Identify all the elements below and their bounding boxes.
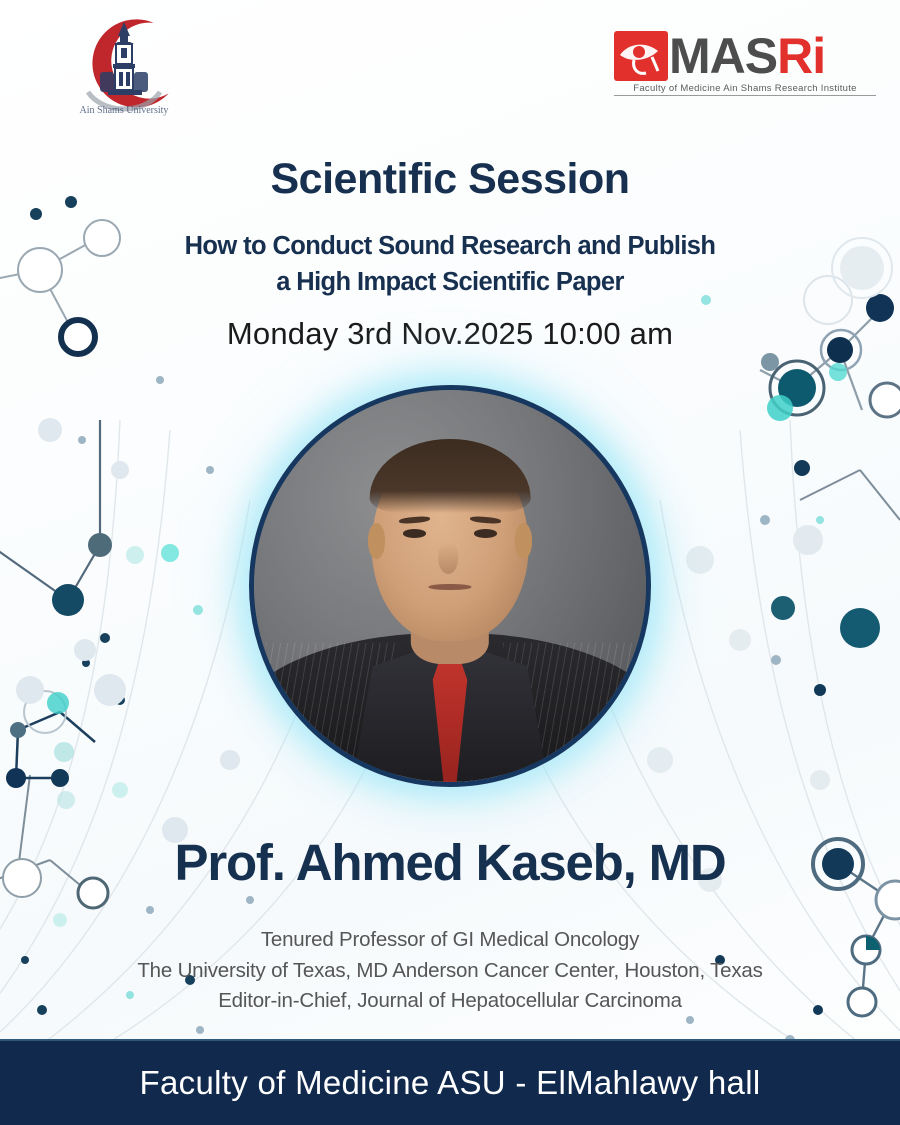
credential-line-2: The University of Texas, MD Anderson Can… [0,956,900,987]
speaker-photo-frame [249,385,651,787]
eye-left [403,529,427,538]
masri-subtitle: Faculty of Medicine Ain Shams Research I… [614,83,876,96]
credential-line-1: Tenured Professor of GI Medical Oncology [0,925,900,956]
nose [438,543,458,574]
event-datetime: Monday 3rd Nov.2025 10:00 am [0,316,900,352]
talk-title-line-2: a High Impact Scientific Paper [0,264,900,300]
venue-banner: Faculty of Medicine ASU - ElMahlawy hall [0,1039,900,1125]
masri-logo: MASRi Faculty of Medicine Ain Shams Rese… [614,30,880,106]
masri-wordmark-accent: Ri [777,28,825,84]
speaker-credentials: Tenured Professor of GI Medical Oncology… [0,925,900,1017]
ain-shams-university-logo: Ain Shams University [58,14,190,118]
speaker-photo [249,385,651,787]
eye-right [474,529,498,538]
credential-line-3: Editor-in-Chief, Journal of Hepatocellul… [0,986,900,1017]
eye-of-horus-icon [614,31,668,81]
talk-title-line-1: How to Conduct Sound Research and Publis… [0,228,900,264]
ear-left [368,523,386,558]
ear-right [515,523,533,558]
masri-wordmark: MASRi [669,31,825,81]
speaker-name: Prof. Ahmed Kaseb, MD [0,833,900,892]
session-title: Scientific Session [0,155,900,204]
talk-title: How to Conduct Sound Research and Publis… [0,228,900,300]
masri-wordmark-main: MAS [669,28,777,84]
event-poster: Ain Shams University MASRi Faculty of Me… [0,0,900,1125]
asu-logo-caption: Ain Shams University [80,105,169,116]
venue-text: Faculty of Medicine ASU - ElMahlawy hall [140,1064,761,1102]
